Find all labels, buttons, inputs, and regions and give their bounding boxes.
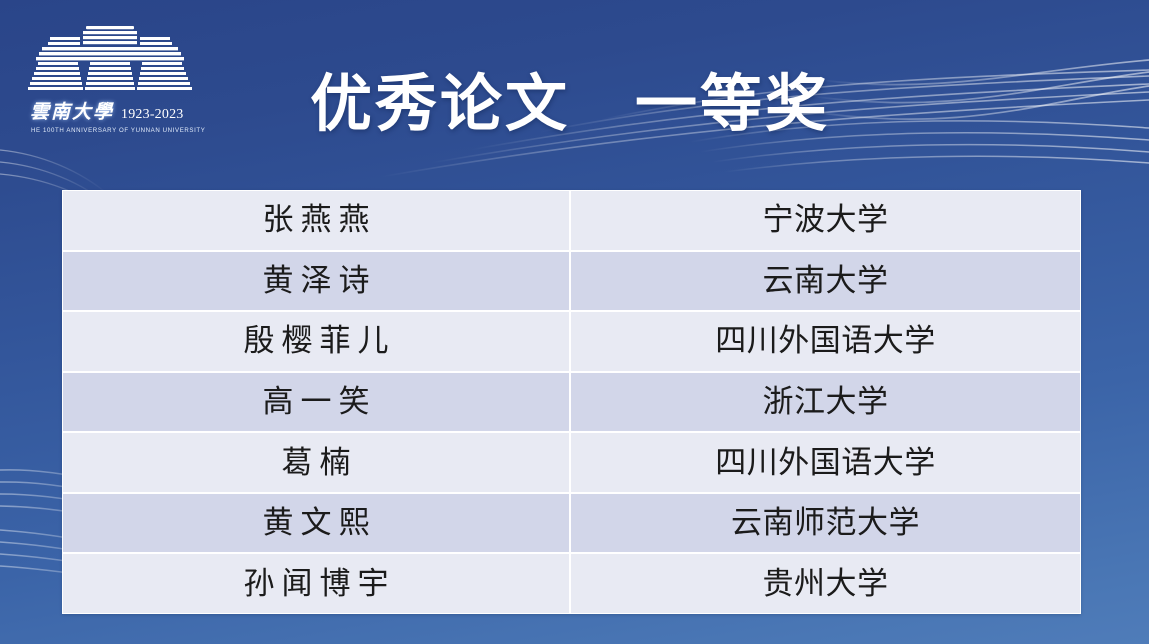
winner-name: 葛楠 bbox=[63, 433, 571, 492]
winner-name: 孙闻博宇 bbox=[63, 554, 571, 613]
winner-school: 四川外国语大学 bbox=[571, 312, 1080, 371]
page-title: 优秀论文 一等奖 bbox=[250, 62, 890, 148]
winner-school: 云南师范大学 bbox=[571, 494, 1080, 553]
award-winners-table: 张燕燕 宁波大学 黄泽诗 云南大学 殷樱菲儿 四川外国语大学 高一笑 浙江大学 … bbox=[62, 190, 1081, 614]
logo-chinese-name-row: 雲南大學 1923-2023 bbox=[30, 103, 190, 125]
winner-name: 张燕燕 bbox=[63, 191, 571, 250]
table-row: 葛楠 四川外国语大学 bbox=[63, 433, 1080, 494]
table-row: 黄文熙 云南师范大学 bbox=[63, 494, 1080, 555]
yunnan-university-gate-emblem-icon bbox=[28, 24, 192, 100]
winner-name: 殷樱菲儿 bbox=[63, 312, 571, 371]
winner-school: 宁波大学 bbox=[571, 191, 1080, 250]
winner-name: 高一笑 bbox=[63, 373, 571, 432]
winner-name: 黄泽诗 bbox=[63, 252, 571, 311]
logo-anniversary-english: HE 100TH ANNIVERSARY OF YUNNAN UNIVERSIT… bbox=[31, 127, 193, 135]
table-row: 高一笑 浙江大学 bbox=[63, 373, 1080, 434]
winner-school: 四川外国语大学 bbox=[571, 433, 1080, 492]
university-logo: 雲南大學 1923-2023 HE 100TH ANNIVERSARY OF Y… bbox=[22, 24, 198, 139]
winner-school: 贵州大学 bbox=[571, 554, 1080, 613]
winner-school: 云南大学 bbox=[571, 252, 1080, 311]
presentation-slide: 雲南大學 1923-2023 HE 100TH ANNIVERSARY OF Y… bbox=[0, 0, 1149, 644]
winner-name: 黄文熙 bbox=[63, 494, 571, 553]
winner-school: 浙江大学 bbox=[571, 373, 1080, 432]
table-row: 孙闻博宇 贵州大学 bbox=[63, 554, 1080, 613]
table-row: 黄泽诗 云南大学 bbox=[63, 252, 1080, 313]
table-row: 张燕燕 宁波大学 bbox=[63, 191, 1080, 252]
logo-anniversary-years: 1923-2023 bbox=[121, 107, 183, 122]
logo-university-name-cn: 雲南大學 bbox=[30, 103, 114, 123]
table-row: 殷樱菲儿 四川外国语大学 bbox=[63, 312, 1080, 373]
